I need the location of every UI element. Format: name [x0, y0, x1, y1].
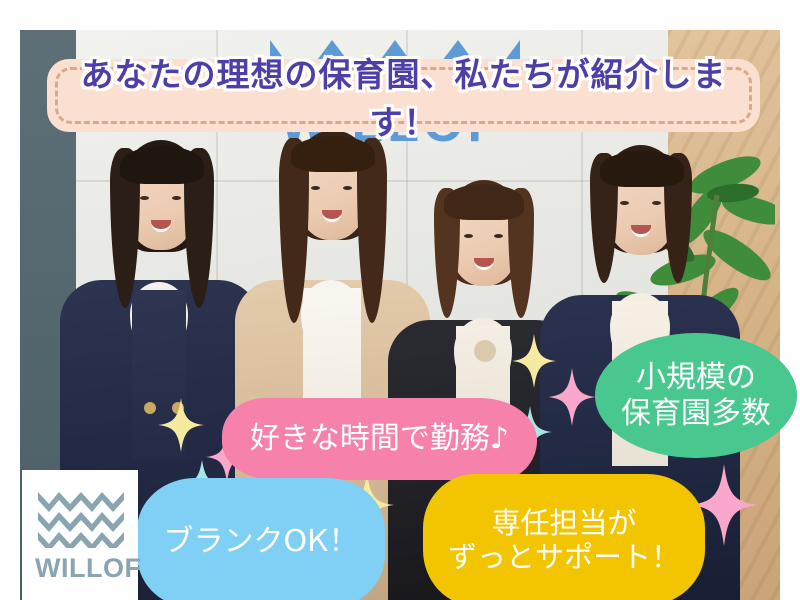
- willof-logo-text: WILLOF: [35, 553, 141, 584]
- bubble-flexible-hours: 好きな時間で勤務♪: [222, 398, 537, 480]
- bubble-dedicated-support: 専任担当が ずっとサポート！: [423, 474, 705, 600]
- willof-logo: WILLOF: [22, 470, 138, 600]
- sparkle-5: [548, 368, 596, 426]
- banner-headline: あなたの理想の保育園、私たちが紹介します！: [47, 48, 760, 144]
- bubble-blank-ok-text: ブランクОК！: [164, 524, 359, 559]
- bubble-dedicated-support-line1: 専任担当が: [448, 506, 680, 540]
- bubble-flexible-hours-text: 好きな時間で勤務♪: [250, 421, 509, 456]
- header-banner: あなたの理想の保育園、私たちが紹介します！: [47, 59, 760, 132]
- bubble-small-nursery-line1: 小規模の: [621, 360, 771, 395]
- bubble-small-nursery-line2: 保育園多数: [621, 396, 771, 431]
- ad-banner-root: WILLOF: [0, 0, 800, 600]
- bubble-blank-ok: ブランクОК！: [137, 478, 385, 600]
- bubble-small-nursery: 小規模の 保育園多数: [595, 333, 797, 458]
- sparkle-1: [158, 398, 204, 452]
- zigzag-waves-icon: [38, 490, 124, 548]
- bubble-dedicated-support-line2: ずっとサポート！: [448, 540, 680, 574]
